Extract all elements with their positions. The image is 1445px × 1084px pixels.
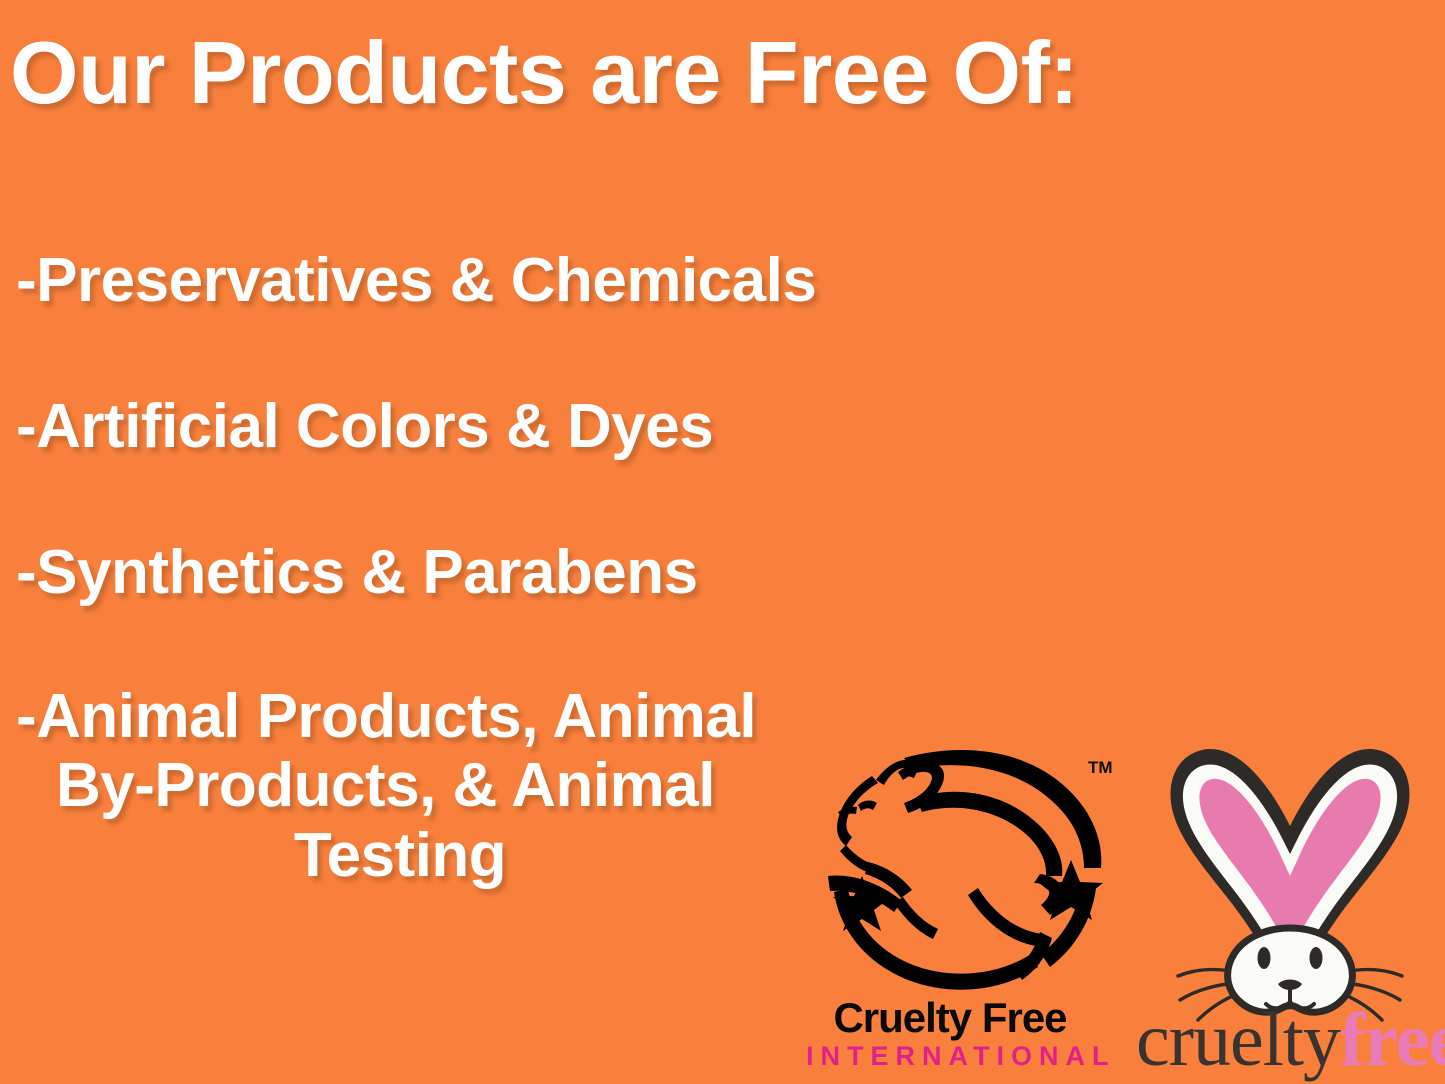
cfi-title: Cruelty Free <box>800 997 1100 1039</box>
list-item: -Animal Products, Animal By-Products, & … <box>0 682 800 890</box>
cfi-wordmark: Cruelty Free INTERNATIONAL <box>800 997 1100 1070</box>
heart-ears-bunny-icon <box>1154 730 1426 1022</box>
cf-wordmark: crueltyfree <box>1136 1002 1445 1078</box>
list-item-line: -Animal Products, Animal <box>0 682 800 751</box>
list-item: -Artificial Colors & Dyes <box>0 396 830 458</box>
list-item-line: Testing <box>0 821 800 890</box>
list-item: -Synthetics & Parabens <box>0 542 830 604</box>
slide-canvas: Our Products are Free Of: -Preservatives… <box>0 0 1445 1084</box>
cf-word-cruelty: cruelty <box>1136 998 1340 1082</box>
page-title: Our Products are Free Of: <box>10 26 1078 119</box>
list-item: -Preservatives & Chemicals <box>0 250 830 312</box>
list-item-line: By-Products, & Animal <box>0 751 800 820</box>
bullet-list: -Preservatives & Chemicals -Artificial C… <box>0 250 830 890</box>
cruelty-free-international-logo: TM Cruelty Free INTERNATIONAL <box>800 742 1130 1084</box>
leaping-bunny-icon <box>800 742 1130 1000</box>
trademark-symbol: TM <box>1088 758 1113 778</box>
cfi-subtitle: INTERNATIONAL <box>806 1043 1100 1070</box>
cruelty-free-bunny-logo: crueltyfree <box>1136 730 1445 1084</box>
cf-word-free: free <box>1340 998 1445 1082</box>
logo-row: TM Cruelty Free INTERNATIONAL <box>800 742 1445 1084</box>
